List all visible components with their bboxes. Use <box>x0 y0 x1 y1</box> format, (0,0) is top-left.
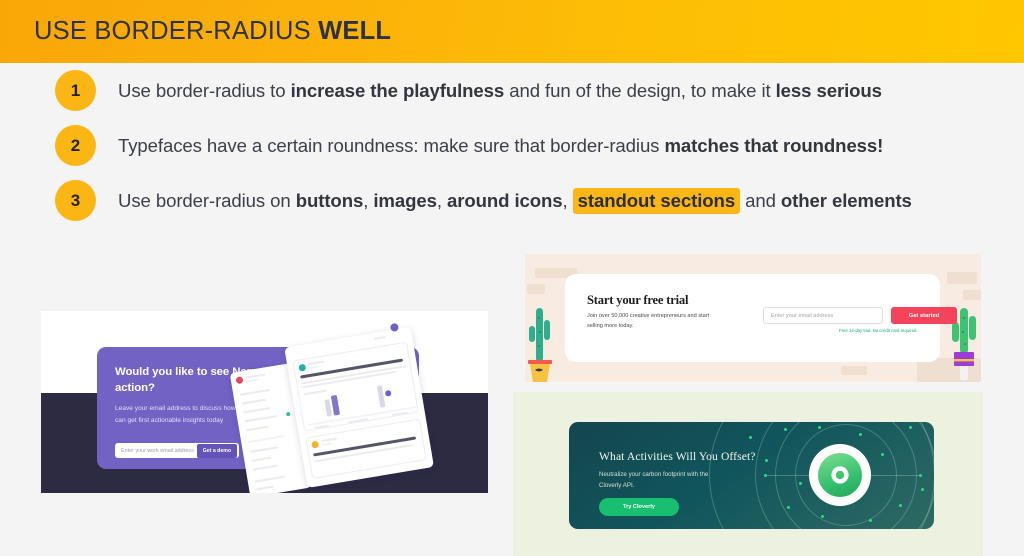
brand-avatar-icon <box>235 376 243 384</box>
example-screenshot-narrative-bi: Would you like to see Narrative BI in ac… <box>41 311 488 493</box>
text-run: Typefaces have a certain roundness: make… <box>118 135 664 156</box>
text-run-bold: matches that roundness! <box>664 135 883 156</box>
dashboard-main <box>284 327 434 488</box>
text-run: and fun of the design, to make it <box>504 80 775 101</box>
header-banner: USE BORDER-RADIUS WELL <box>0 0 1024 63</box>
node-dot-icon <box>765 459 768 462</box>
list-item: 3 Use border-radius on buttons, images, … <box>0 173 1024 228</box>
node-dot-icon <box>859 433 862 436</box>
insight-avatar-icon <box>311 441 319 449</box>
text-run: and <box>740 190 781 211</box>
list-item-text-3: Use border-radius on buttons, images, ar… <box>118 190 912 212</box>
user-avatar-icon <box>390 323 399 332</box>
guidelines-list: 1 Use border-radius to increase the play… <box>0 63 1024 228</box>
cloverly-logo-icon <box>809 444 871 506</box>
page-title-bold: WELL <box>318 17 391 45</box>
list-item: 1 Use border-radius to increase the play… <box>0 63 1024 118</box>
cta-heading: Start your free trial <box>587 293 688 308</box>
get-a-demo-button[interactable]: Get a demo <box>197 444 237 458</box>
chart-point-icon <box>385 390 392 397</box>
text-run-bold: other elements <box>781 190 912 211</box>
list-item-text-1: Use border-radius to increase the playfu… <box>118 80 882 102</box>
node-dot-icon <box>784 428 787 431</box>
cta-body: Neutralize your carbon footprint with th… <box>599 470 724 491</box>
cta-heading: What Activities Will You Offset? <box>599 450 756 463</box>
node-dot-icon <box>909 426 912 429</box>
trial-fine-print: Free 14-day trial. No credit card requir… <box>839 328 918 333</box>
insight-avatar-icon <box>298 364 306 372</box>
text-run: , <box>363 190 373 211</box>
cta-body: Join over 50,000 creative entrepreneurs … <box>587 312 712 331</box>
node-dot-icon <box>919 474 922 477</box>
text-run: Use border-radius to <box>118 80 291 101</box>
text-run-bold: buttons <box>296 190 363 211</box>
dashboard-mockup <box>226 319 437 493</box>
node-dot-icon <box>869 519 872 522</box>
list-item: 2 Typefaces have a certain roundness: ma… <box>0 118 1024 173</box>
radar-spoke-icon <box>765 475 811 476</box>
text-run: Use border-radius on <box>118 190 296 211</box>
text-run-bold: increase the playfulness <box>291 80 505 101</box>
recycle-icon <box>829 464 851 486</box>
node-dot-icon <box>881 453 884 456</box>
text-run-bold: images <box>373 190 436 211</box>
highlighted-phrase: standout sections <box>573 188 740 214</box>
example-screenshot-free-trial: Start your free trial Join over 50,000 c… <box>525 254 981 382</box>
text-run-bold: less serious <box>776 80 882 101</box>
insight-card <box>292 342 418 432</box>
cactus-illustration-left <box>527 304 553 382</box>
text-run-bold: around icons <box>447 190 563 211</box>
text-run: , <box>563 190 573 211</box>
node-dot-icon <box>749 436 752 439</box>
text-run: , <box>437 190 447 211</box>
node-dot-icon <box>787 506 790 509</box>
example-screenshot-cloverly: What Activities Will You Offset? Neutral… <box>513 392 983 556</box>
status-dot-icon <box>286 412 291 417</box>
node-dot-icon <box>818 426 821 429</box>
list-item-badge-1: 1 <box>55 70 96 111</box>
list-item-badge-3: 3 <box>55 180 96 221</box>
slide-canvas: USE BORDER-RADIUS WELL 1 Use border-radi… <box>0 0 1024 556</box>
node-dot-icon <box>921 488 924 491</box>
node-dot-icon <box>764 474 767 477</box>
cta-panel-cloverly: What Activities Will You Offset? Neutral… <box>569 422 934 529</box>
node-dot-icon <box>821 515 824 518</box>
try-cloverly-button[interactable]: Try Cloverly <box>599 498 679 516</box>
radar-spoke-icon <box>869 475 921 476</box>
cloverly-logo-inner <box>818 453 862 497</box>
email-input[interactable]: Enter your work email address <box>115 448 197 454</box>
email-input[interactable]: Enter your email address <box>763 307 883 324</box>
node-dot-icon <box>799 482 802 485</box>
page-title: USE BORDER-RADIUS WELL <box>34 17 391 46</box>
page-title-normal: USE BORDER-RADIUS <box>34 17 318 45</box>
list-item-text-2: Typefaces have a certain roundness: make… <box>118 135 883 157</box>
cta-form: Enter your work email address Get a demo <box>115 443 239 458</box>
node-dot-icon <box>899 504 902 507</box>
get-started-button[interactable]: Get started <box>891 307 957 324</box>
list-item-badge-2: 2 <box>55 125 96 166</box>
cta-panel-free-trial: Start your free trial Join over 50,000 c… <box>565 274 940 362</box>
